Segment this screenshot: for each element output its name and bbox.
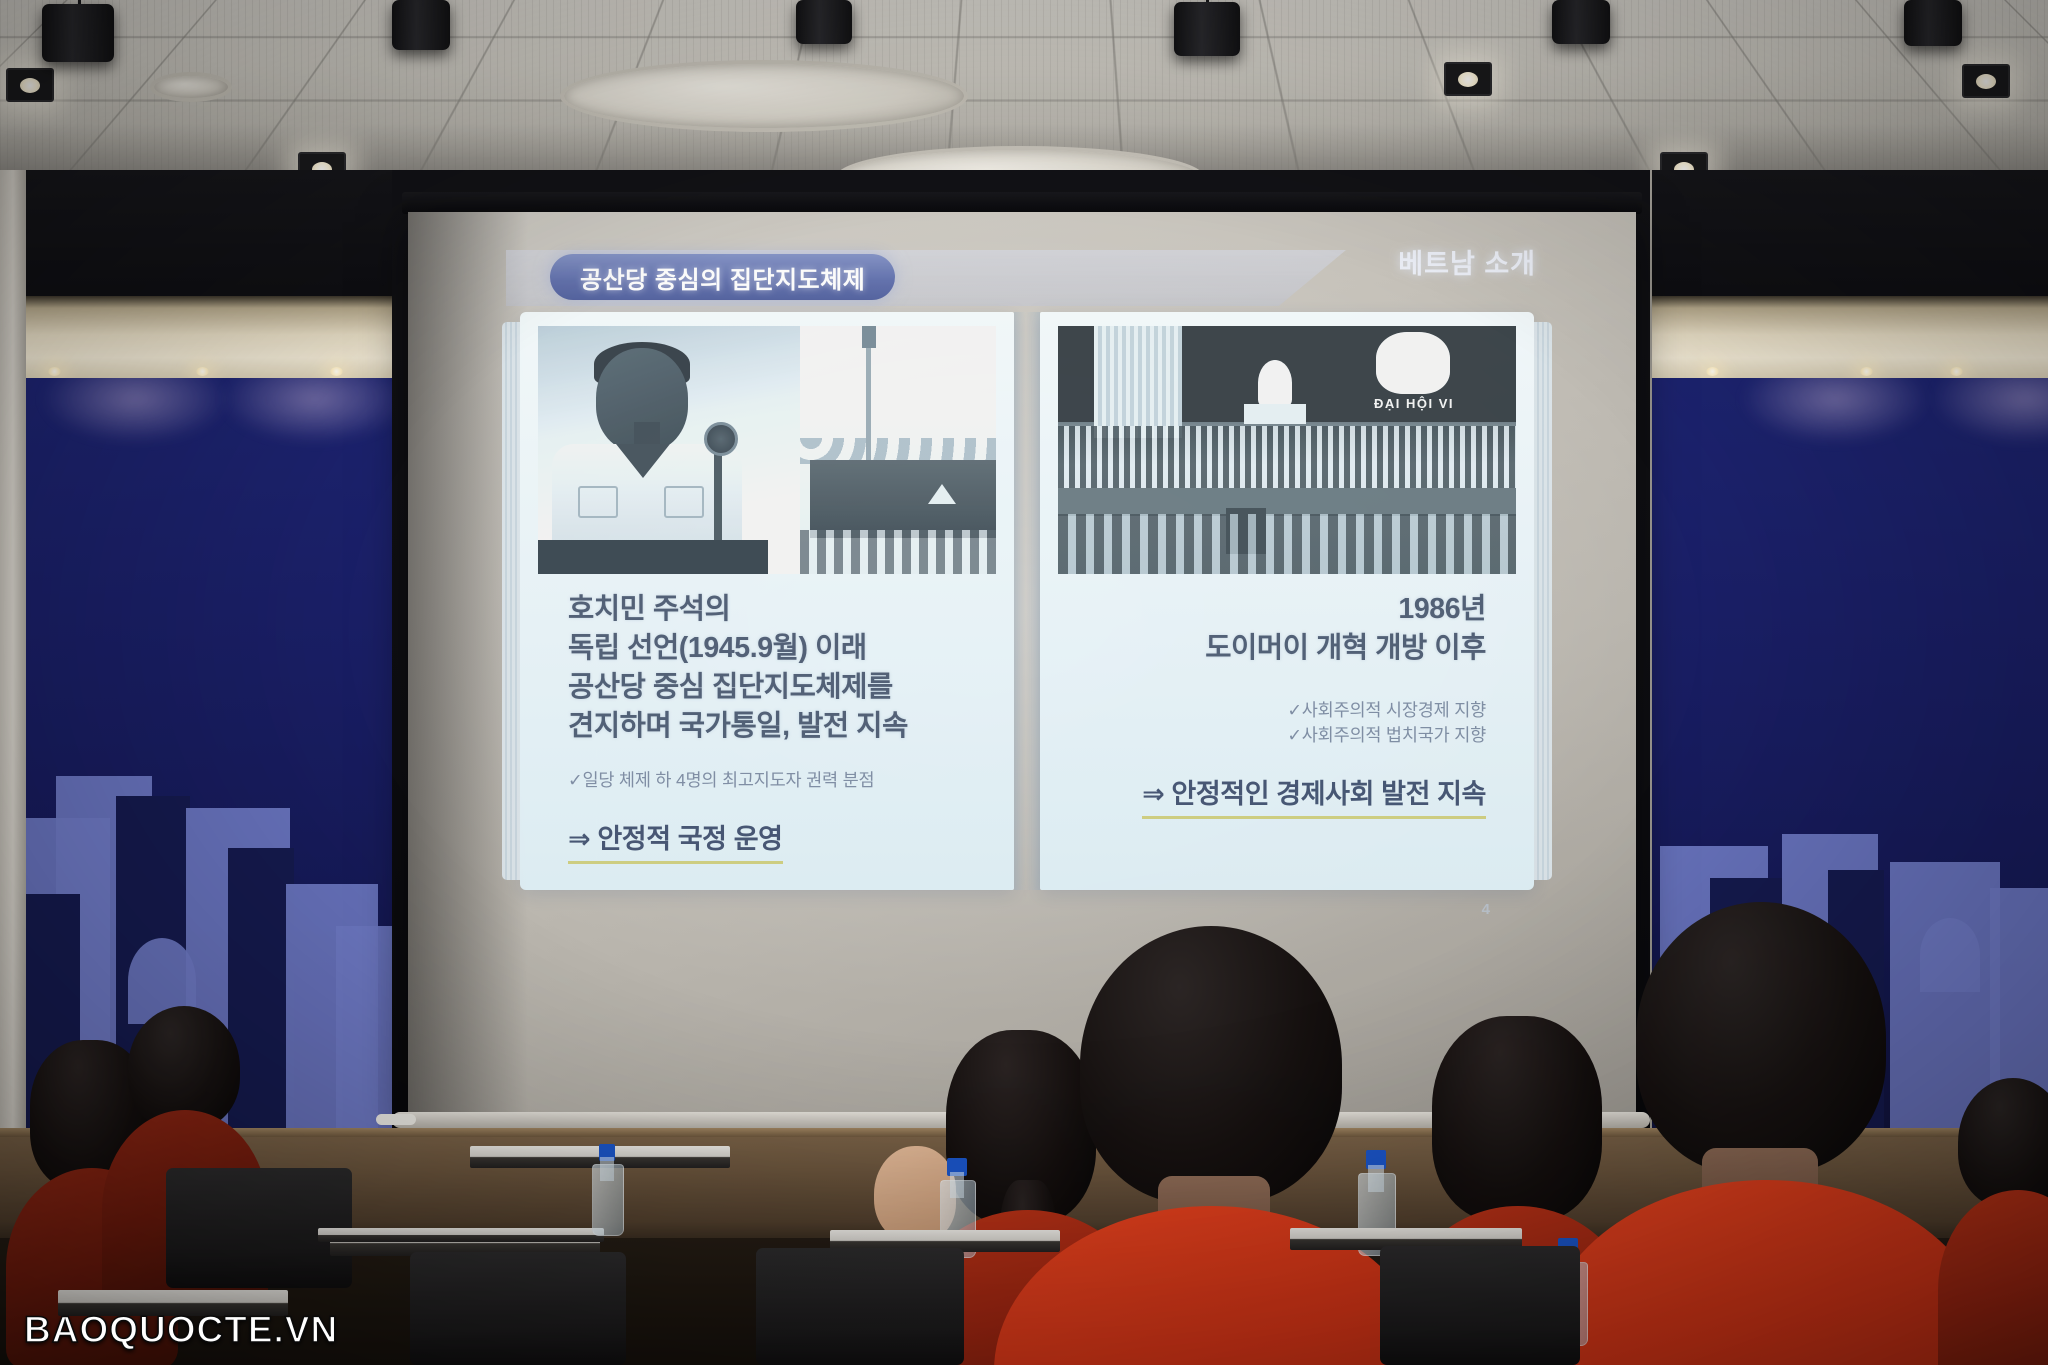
projected-slide: 공산당 중심의 집단지도체제 베트남 소개 xyxy=(506,230,1546,930)
left-heading-line: 호치민 주석의 xyxy=(568,590,992,629)
right-bullet-item: ✓사회주의적 법치국가 지향 xyxy=(1062,723,1486,748)
track-spotlight xyxy=(1904,0,1962,46)
wall-pillar-left xyxy=(0,170,26,1145)
party-congress-photo: ĐẠI HỘI VI xyxy=(1058,326,1516,574)
recessed-square-light xyxy=(1962,64,2010,98)
recessed-square-light xyxy=(298,152,346,172)
book-gutter xyxy=(1014,312,1040,890)
chair-back xyxy=(756,1248,964,1365)
auditorium-scene: 공산당 중심의 집단지도체제 베트남 소개 xyxy=(0,0,2048,1365)
track-spotlight xyxy=(392,0,450,50)
water-bottle xyxy=(592,1144,622,1236)
recessed-square-light xyxy=(6,68,54,102)
slide-page-number: 4 xyxy=(1482,901,1490,918)
historical-photo-right: ĐẠI HỘI VI xyxy=(1058,326,1516,574)
right-bullet-item: ✓사회주의적 시장경제 지향 xyxy=(1062,698,1486,723)
slide-section-label: 베트남 소개 xyxy=(1398,242,1536,281)
slide-title-pill: 공산당 중심의 집단지도체제 xyxy=(550,254,895,300)
left-page-text: 호치민 주석의 독립 선언(1945.9월) 이래 공산당 중심 집단지도체제를… xyxy=(542,590,992,864)
cove-light-left xyxy=(0,296,392,382)
left-bullet-item: ✓일당 체제 하 4명의 최고지도자 권력 분점 xyxy=(568,768,992,793)
left-heading-line: 독립 선언(1945.9월) 이래 xyxy=(568,629,992,668)
track-spotlight xyxy=(796,0,852,44)
right-heading-line: 도이머이 개혁 개방 이후 xyxy=(1062,629,1486,668)
book-page-right: ĐẠI HỘI VI 1986년 도이머이 개혁 개방 이후 xyxy=(1040,312,1534,890)
projection-screen: 공산당 중심의 집단지도체제 베트남 소개 xyxy=(408,212,1636,1120)
page-edge xyxy=(1534,322,1552,880)
round-ceiling-diffuser xyxy=(150,72,232,102)
book-page-left: 호치민 주석의 독립 선언(1945.9월) 이래 공산당 중심 집단지도체제를… xyxy=(520,312,1014,890)
track-spotlight xyxy=(42,4,114,62)
left-heading-line: 공산당 중심 집단지도체제를 xyxy=(568,668,992,707)
round-ceiling-diffuser xyxy=(560,60,968,132)
ho-chi-minh-photo xyxy=(538,326,800,574)
cove-light-right xyxy=(1650,296,2048,382)
left-heading-line: 견지하며 국가통일, 발전 지속 xyxy=(568,707,992,746)
independence-declaration-crowd-photo xyxy=(800,326,996,574)
congress-photo-label: ĐẠI HỘI VI xyxy=(1354,396,1474,411)
right-heading-line: 1986년 xyxy=(1062,590,1486,629)
track-spotlight xyxy=(1174,2,1240,56)
left-conclusion: ⇒ 안정적 국정 운영 xyxy=(568,817,783,864)
tablet-desk xyxy=(318,1228,604,1242)
historical-photo-left xyxy=(538,326,996,574)
ceiling xyxy=(0,0,2048,172)
recessed-square-light xyxy=(1660,152,1708,172)
chair-back xyxy=(410,1252,626,1365)
left-bullets: ✓일당 체제 하 4명의 최고지도자 권력 분점 xyxy=(568,768,992,793)
track-spotlight xyxy=(1552,0,1610,44)
screen-housing xyxy=(402,192,1642,214)
right-conclusion: ⇒ 안정적인 경제사회 발전 지속 xyxy=(1142,772,1486,819)
page-edge xyxy=(502,322,520,880)
right-bullets: ✓사회주의적 시장경제 지향 ✓사회주의적 법치국가 지향 xyxy=(1062,698,1486,748)
chair-back xyxy=(1380,1246,1580,1365)
recessed-square-light xyxy=(1444,62,1492,96)
watermark: BAOQUOCTE.VN xyxy=(24,1309,338,1351)
open-book-graphic: 호치민 주석의 독립 선언(1945.9월) 이래 공산당 중심 집단지도체제를… xyxy=(520,312,1534,890)
slide-header: 공산당 중심의 집단지도체제 베트남 소개 xyxy=(506,250,1546,306)
right-page-text: 1986년 도이머이 개혁 개방 이후 ✓사회주의적 시장경제 지향 ✓사회주의… xyxy=(1062,590,1512,819)
